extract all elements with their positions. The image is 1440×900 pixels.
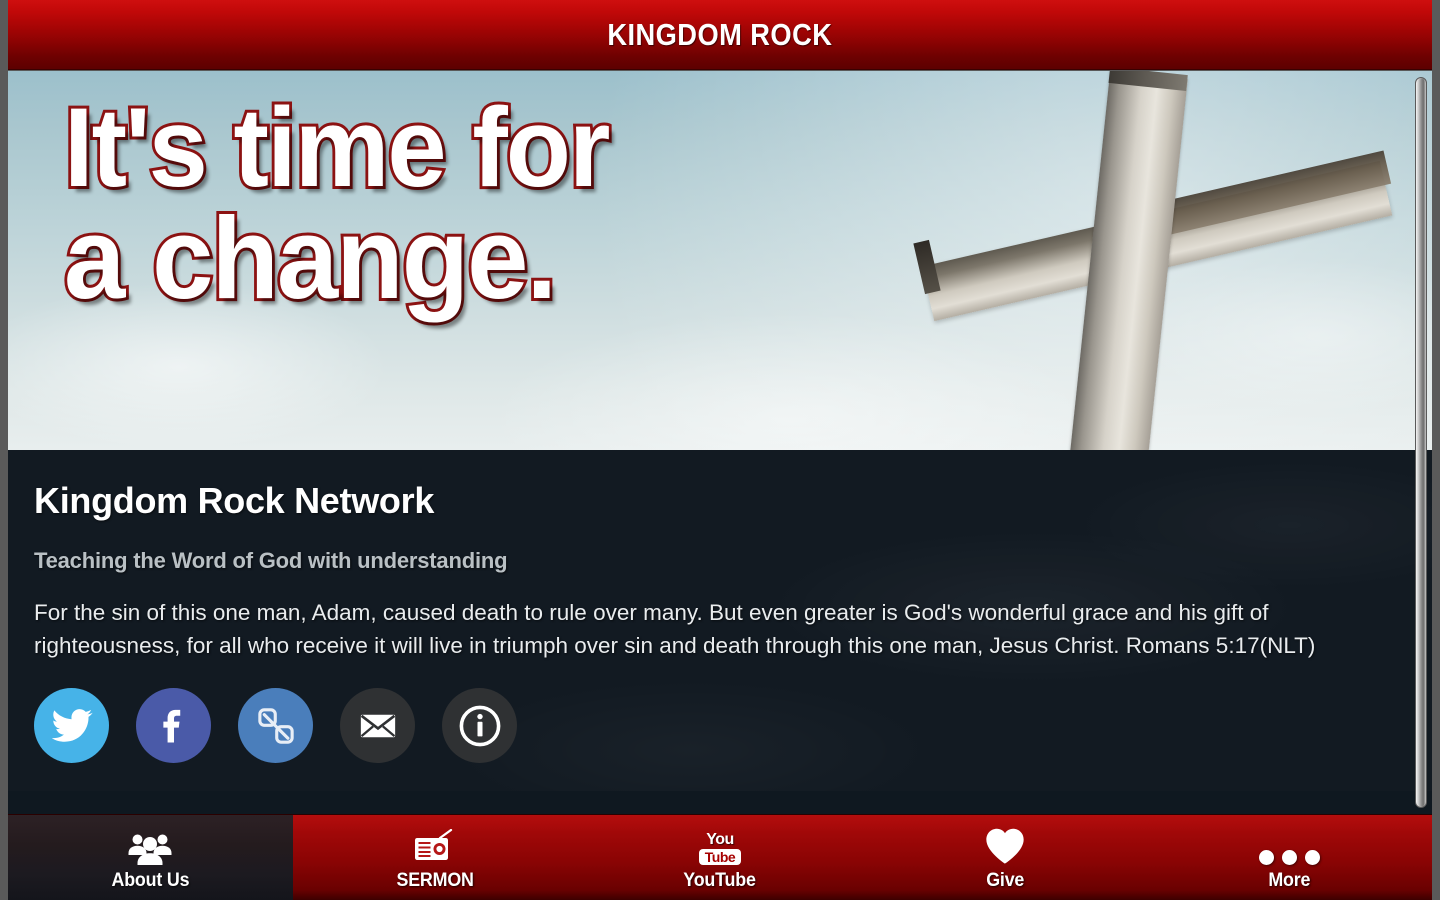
ellipsis-icon [1259,827,1320,865]
tab-label-about-us: About Us [111,870,189,892]
tab-label-give: Give [986,870,1024,892]
ellipsis-dot-2 [1282,850,1297,865]
info-panel: Kingdom Rock Network Teaching the Word o… [8,450,1432,791]
bottom-tab-bar: About Us SERMON You [8,814,1432,900]
youtube-tube-text: Tube [699,849,741,865]
heart-icon [983,827,1027,865]
tab-label-sermon: SERMON [397,870,474,892]
tab-about-us[interactable]: About Us [8,815,293,900]
cross-image [902,71,1422,450]
twitter-icon [50,704,94,748]
social-links-row [34,688,1406,791]
facebook-icon [152,704,196,748]
organization-title: Kingdom Rock Network [34,480,1406,522]
youtube-icon: You Tube [699,827,741,865]
ellipsis-dot-1 [1259,850,1274,865]
people-group-icon [127,827,173,865]
youtube-you-text: You [706,832,734,848]
hero-headline: It's time for a change. [64,95,944,314]
title-bar: KINGDOM ROCK [8,0,1432,70]
tab-label-youtube: YouTube [684,870,756,892]
app-window: KINGDOM ROCK It's time for a change. Kin… [0,0,1440,900]
info-icon [456,702,504,750]
app-title: KINGDOM ROCK [607,17,832,53]
facebook-button[interactable] [136,688,211,763]
hero-banner[interactable]: It's time for a change. [8,71,1432,450]
ellipsis-dot-3 [1305,850,1320,865]
scrollbar-thumb[interactable] [1415,77,1427,808]
radio-icon [410,827,460,865]
tab-sermon[interactable]: SERMON [293,815,578,900]
info-button[interactable] [442,688,517,763]
tab-label-more: More [1269,870,1311,892]
email-button[interactable] [340,688,415,763]
scripture-verse-text: For the sin of this one man, Adam, cause… [34,596,1406,662]
hero-headline-line-1: It's time for [64,95,900,201]
twitter-button[interactable] [34,688,109,763]
vertical-scrollbar[interactable] [1413,75,1429,810]
envelope-icon [357,705,399,747]
tab-youtube[interactable]: You Tube YouTube [578,815,863,900]
tab-more[interactable]: More [1147,815,1432,900]
copy-link-button[interactable] [238,688,313,763]
content-scroll-area[interactable]: It's time for a change. Kingdom Rock Net… [8,71,1432,814]
link-icon [254,704,298,748]
hero-headline-line-2: a change. [64,203,900,313]
organization-tagline: Teaching the Word of God with understand… [34,548,1406,574]
tab-give[interactable]: Give [862,815,1147,900]
